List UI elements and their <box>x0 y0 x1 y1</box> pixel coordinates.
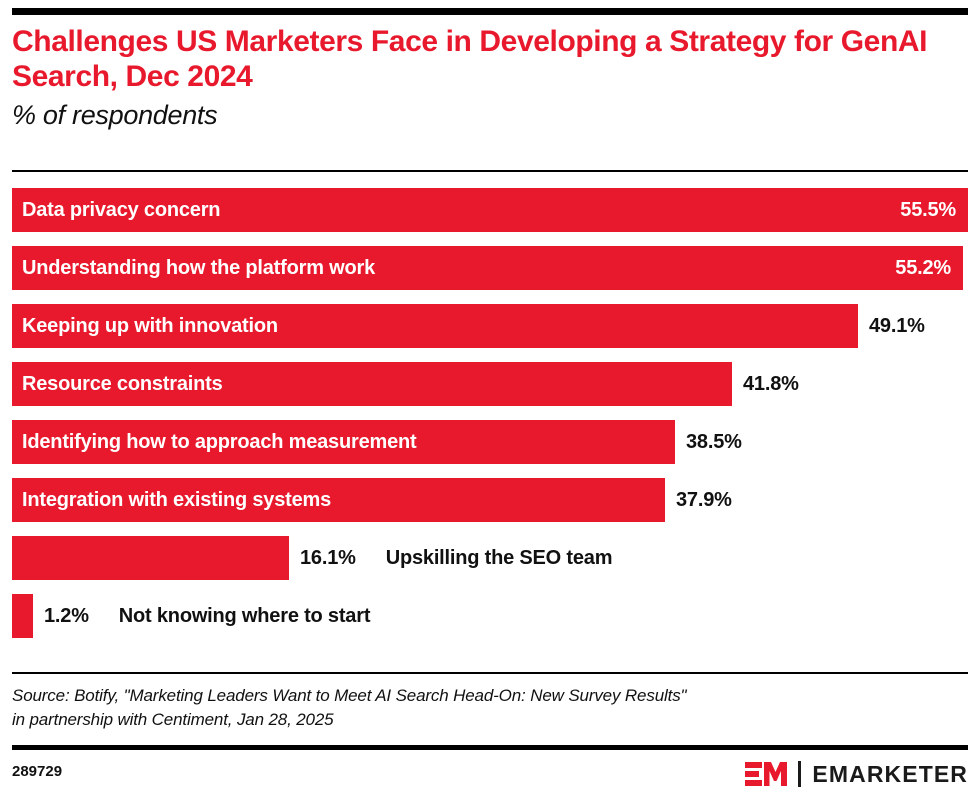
bar-value-label: 37.9% <box>665 478 732 522</box>
source-divider <box>12 672 968 674</box>
bar-value-label: 38.5% <box>675 420 742 464</box>
bar-value-label: 55.5% <box>900 200 968 220</box>
bar-value-label: 41.8% <box>732 362 799 406</box>
bar-category-label: Not knowing where to start <box>89 594 370 638</box>
bar-row: 1.2%Not knowing where to start <box>12 594 370 638</box>
source-line-1: Source: Botify, "Marketing Leaders Want … <box>12 684 968 708</box>
bar <box>12 594 33 638</box>
bar: Integration with existing systems <box>12 478 665 522</box>
bar-value-label: 49.1% <box>858 304 925 348</box>
header-divider <box>12 170 968 172</box>
top-rule <box>12 8 968 15</box>
bar-chart-plot: Data privacy concern55.5%Understanding h… <box>0 188 980 658</box>
bar: Identifying how to approach measurement <box>12 420 675 464</box>
bar-category-label: Understanding how the platform work <box>12 258 375 278</box>
emarketer-logo: EMARKETER <box>745 759 968 789</box>
bar: Understanding how the platform work55.2% <box>12 246 963 290</box>
bar-row: Understanding how the platform work55.2% <box>12 246 963 290</box>
page-subtitle: % of respondents <box>12 100 968 131</box>
logo-divider <box>798 761 801 787</box>
footer-rule <box>12 745 968 750</box>
bar-row: Identifying how to approach measurement3… <box>12 420 742 464</box>
bar-row: Data privacy concern55.5% <box>12 188 968 232</box>
bar-row: Integration with existing systems37.9% <box>12 478 732 522</box>
bar-value-label: 16.1% <box>289 536 356 580</box>
chart-id: 289729 <box>12 763 62 780</box>
bar-category-label: Integration with existing systems <box>12 490 331 510</box>
em-monogram-icon <box>745 761 787 787</box>
bar-row: Resource constraints41.8% <box>12 362 799 406</box>
bar-category-label: Upskilling the SEO team <box>356 536 613 580</box>
bar-category-label: Keeping up with innovation <box>12 316 278 336</box>
bar: Resource constraints <box>12 362 732 406</box>
chart-card: Challenges US Marketers Face in Developi… <box>0 0 980 800</box>
bar-category-label: Resource constraints <box>12 374 223 394</box>
bar <box>12 536 289 580</box>
bar-category-label: Data privacy concern <box>12 200 220 220</box>
bar-row: Keeping up with innovation49.1% <box>12 304 925 348</box>
header: Challenges US Marketers Face in Developi… <box>12 24 968 131</box>
bar: Keeping up with innovation <box>12 304 858 348</box>
bar-value-label: 1.2% <box>33 594 89 638</box>
source-line-2: in partnership with Centiment, Jan 28, 2… <box>12 708 968 732</box>
bar-value-label: 55.2% <box>895 258 963 278</box>
bar-row: 16.1%Upskilling the SEO team <box>12 536 612 580</box>
source-note: Source: Botify, "Marketing Leaders Want … <box>12 684 968 732</box>
bar: Data privacy concern55.5% <box>12 188 968 232</box>
page-title: Challenges US Marketers Face in Developi… <box>12 24 968 94</box>
brand-name: EMARKETER <box>812 763 968 786</box>
bar-category-label: Identifying how to approach measurement <box>12 432 416 452</box>
